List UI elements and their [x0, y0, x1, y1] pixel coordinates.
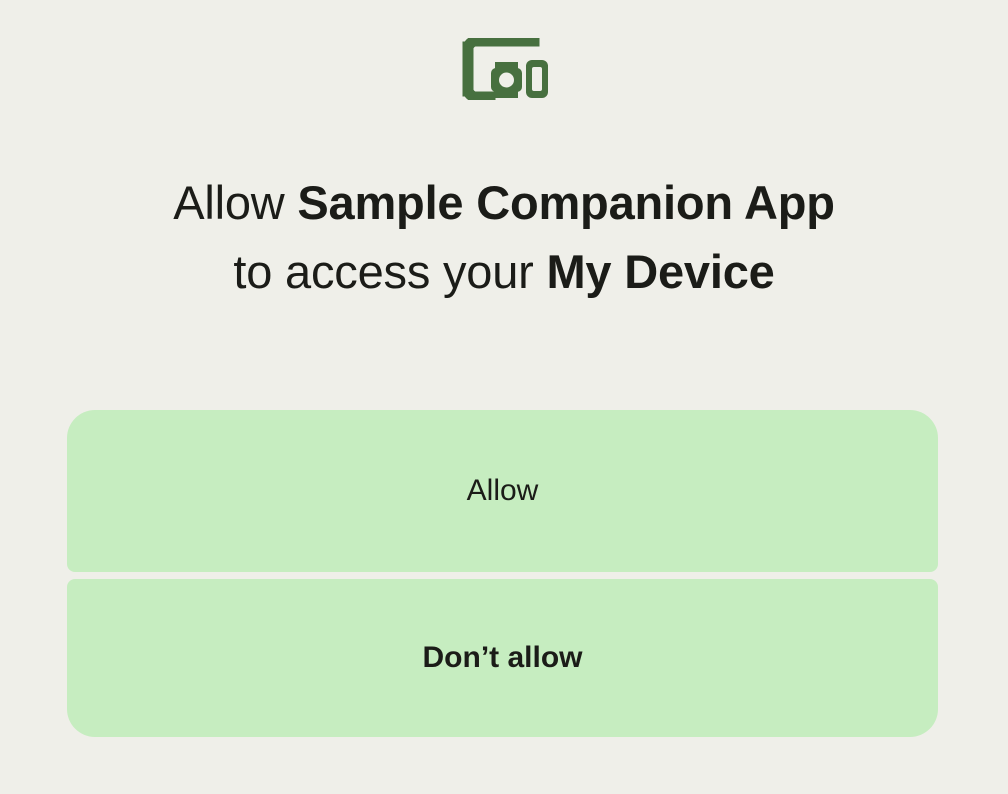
- companion-pairing-dialog: Allow Sample Companion App to access you…: [0, 0, 1008, 794]
- dont-allow-button[interactable]: Don’t allow: [67, 579, 938, 737]
- dialog-button-stack: Allow Don’t allow: [67, 410, 938, 737]
- dialog-title-allow-text: Allow: [173, 176, 297, 229]
- dialog-title: Allow Sample Companion App to access you…: [54, 168, 954, 306]
- dialog-title-access-text: to access your: [233, 245, 546, 298]
- devices-icon: [460, 38, 548, 100]
- dialog-title-app-name: Sample Companion App: [297, 176, 834, 229]
- dialog-title-line-1: Allow Sample Companion App: [54, 168, 954, 237]
- dialog-title-line-2: to access your My Device: [54, 237, 954, 306]
- dialog-title-device-name: My Device: [546, 245, 774, 298]
- allow-button[interactable]: Allow: [67, 410, 938, 572]
